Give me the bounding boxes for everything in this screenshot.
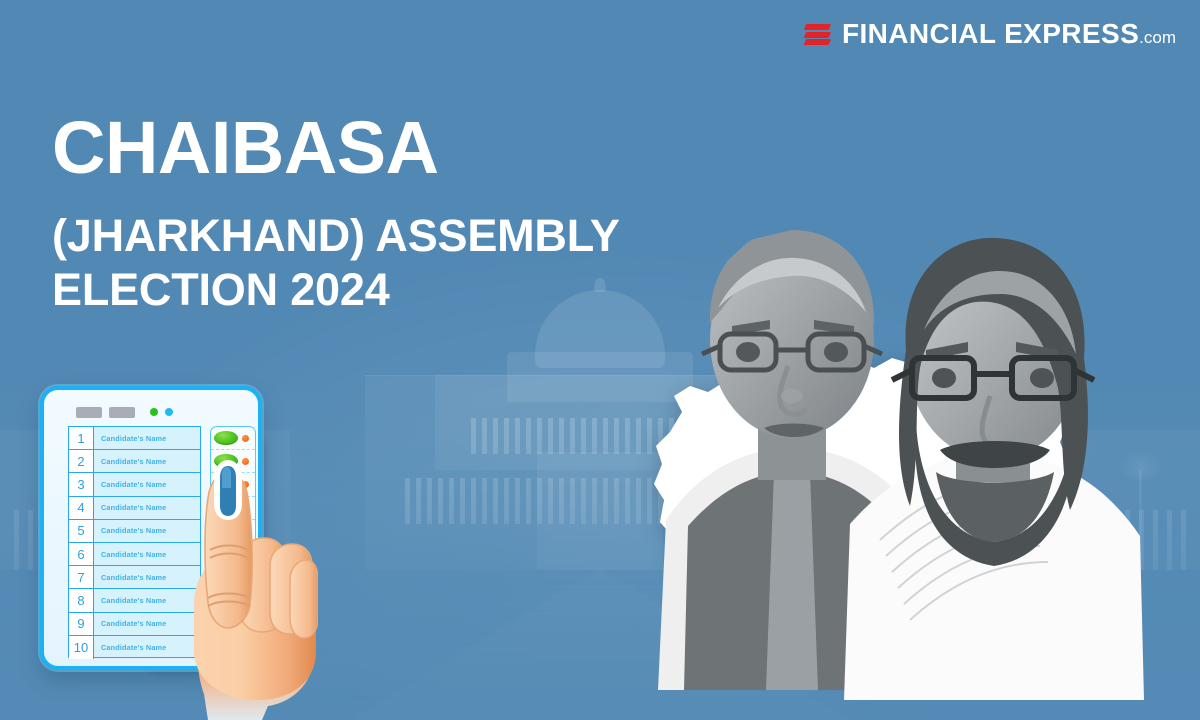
- vote-button-row[interactable]: [211, 427, 255, 450]
- election-poster: FINANCIAL EXPRESS.com CHAIBASA (JHARKHAN…: [0, 0, 1200, 720]
- page-title: CHAIBASA (JHARKHAND) ASSEMBLY ELECTION 2…: [52, 112, 692, 318]
- politician-portraits: [612, 150, 1132, 690]
- ballot-row[interactable]: 1 Candidate's Name: [69, 427, 200, 450]
- ballot-row-number: 5: [69, 520, 94, 542]
- brand-masthead[interactable]: FINANCIAL EXPRESS.com: [805, 20, 1176, 48]
- ballot-row-number: 3: [69, 473, 94, 495]
- evm-ready-light-icon: [165, 408, 173, 416]
- ballot-row-number: 10: [69, 636, 94, 659]
- ballot-row-number: 8: [69, 589, 94, 611]
- ballot-row-number: 7: [69, 566, 94, 588]
- evm-top-indicators: [76, 406, 236, 418]
- evm-slot-icon: [76, 407, 102, 418]
- vote-led-icon: [242, 435, 249, 442]
- ballot-row-number: 6: [69, 543, 94, 565]
- evm-power-light-icon: [150, 408, 158, 416]
- brand-name: FINANCIAL EXPRESS: [842, 18, 1139, 49]
- brand-wordmark: FINANCIAL EXPRESS.com: [842, 20, 1176, 48]
- headline-line-1: CHAIBASA: [52, 112, 692, 185]
- ballot-row-number: 2: [69, 450, 94, 472]
- headline-line-2: (JHARKHAND) ASSEMBLY: [52, 209, 692, 264]
- ballot-row-number: 4: [69, 497, 94, 519]
- politician-portrait-right: [844, 210, 1144, 700]
- headline-line-3: ELECTION 2024: [52, 263, 692, 318]
- pointing-hand-with-inked-finger-icon: [178, 458, 318, 720]
- ballot-row-number: 1: [69, 427, 94, 449]
- brand-suffix: .com: [1139, 28, 1176, 47]
- ballot-row-number: 9: [69, 613, 94, 635]
- evm-slot-icon: [109, 407, 135, 418]
- financial-express-logo-icon: [805, 20, 831, 48]
- ballot-row-candidate: Candidate's Name: [94, 434, 200, 443]
- evm-illustration: 1 Candidate's Name 2 Candidate's Name 3 …: [28, 378, 308, 720]
- vote-button-icon[interactable]: [214, 431, 238, 445]
